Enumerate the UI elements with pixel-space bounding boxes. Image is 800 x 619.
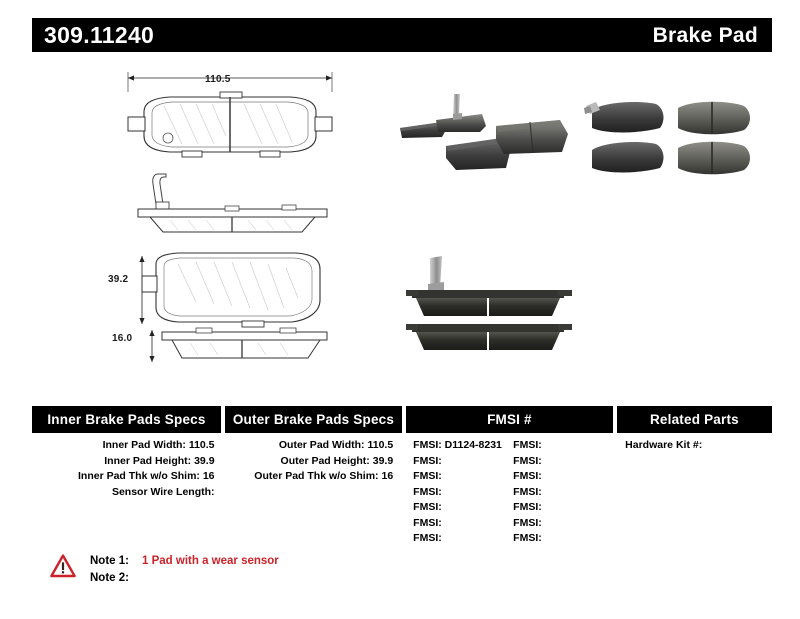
inner-pad-thickness-label: Inner Pad Thk w/o Shim: bbox=[78, 470, 200, 482]
fmsi-label: FMSI: bbox=[513, 532, 542, 544]
note-2-label: Note 2: bbox=[90, 570, 136, 587]
inner-specs-column: Inner Pad Width: 110.5 Inner Pad Height:… bbox=[32, 438, 221, 547]
spec-row-inner-pad-height: Inner Pad Height: 39.9 bbox=[32, 454, 215, 470]
related-parts-column: Hardware Kit #: bbox=[617, 438, 772, 547]
photo-group-front-set bbox=[578, 94, 758, 194]
fmsi-value: D1124-8231 bbox=[445, 439, 502, 451]
fmsi-row: FMSI: bbox=[513, 454, 613, 470]
fmsi-row: FMSI: bbox=[513, 516, 613, 532]
fmsi-subcolumn-left: FMSI: D1124-8231 FMSI: FMSI: FMSI: FMSI: bbox=[413, 438, 513, 547]
table-header-row: Inner Brake Pads Specs Outer Brake Pads … bbox=[32, 406, 772, 433]
notes-section: Note 1: 1 Pad with a wear sensor Note 2: bbox=[50, 552, 279, 587]
fmsi-row: FMSI: D1124-8231 bbox=[413, 438, 513, 454]
fmsi-row: FMSI: bbox=[513, 485, 613, 501]
fmsi-column: FMSI: D1124-8231 FMSI: FMSI: FMSI: FMSI: bbox=[405, 438, 613, 547]
outer-pad-width-label: Outer Pad Width: bbox=[279, 439, 365, 451]
table-body: Inner Pad Width: 110.5 Inner Pad Height:… bbox=[32, 433, 772, 547]
sensor-wire-length-label: Sensor Wire Length: bbox=[112, 486, 215, 498]
fmsi-label: FMSI: bbox=[513, 470, 542, 482]
note-line-2: Note 2: bbox=[90, 570, 279, 587]
fmsi-subcolumn-right: FMSI: FMSI: FMSI: FMSI: FMSI: bbox=[513, 438, 613, 547]
product-type-title: Brake Pad bbox=[653, 25, 758, 46]
fmsi-label: FMSI: bbox=[413, 486, 442, 498]
photo-edge-pair bbox=[402, 248, 577, 358]
part-number: 309.11240 bbox=[44, 24, 154, 47]
column-header-related-parts: Related Parts bbox=[617, 406, 772, 433]
fmsi-row: FMSI: bbox=[513, 438, 613, 454]
outer-pad-thickness-value: 16 bbox=[381, 470, 393, 482]
fmsi-row: FMSI: bbox=[413, 454, 513, 470]
column-header-inner-specs: Inner Brake Pads Specs bbox=[32, 406, 221, 433]
note-1-label: Note 1: bbox=[90, 553, 136, 570]
drawing-edge-view-with-sensor bbox=[130, 168, 335, 238]
outer-specs-column: Outer Pad Width: 110.5 Outer Pad Height:… bbox=[225, 438, 402, 547]
fmsi-row: FMSI: bbox=[513, 531, 613, 547]
inner-pad-height-label: Inner Pad Height: bbox=[104, 455, 191, 467]
fmsi-label: FMSI: bbox=[413, 501, 442, 513]
fmsi-label: FMSI: bbox=[413, 470, 442, 482]
spec-row-inner-pad-thickness: Inner Pad Thk w/o Shim: 16 bbox=[32, 469, 215, 485]
fmsi-row: FMSI: bbox=[413, 485, 513, 501]
fmsi-row: FMSI: bbox=[413, 469, 513, 485]
spec-row-outer-pad-thickness: Outer Pad Thk w/o Shim: 16 bbox=[225, 469, 394, 485]
spec-row-inner-pad-width: Inner Pad Width: 110.5 bbox=[32, 438, 215, 454]
column-header-fmsi: FMSI # bbox=[406, 406, 613, 433]
column-header-outer-specs: Outer Brake Pads Specs bbox=[225, 406, 402, 433]
outer-pad-width-value: 110.5 bbox=[367, 439, 393, 451]
note-lines: Note 1: 1 Pad with a wear sensor Note 2: bbox=[90, 552, 279, 587]
fmsi-row: FMSI: bbox=[413, 500, 513, 516]
specifications-table: Inner Brake Pads Specs Outer Brake Pads … bbox=[32, 406, 772, 547]
fmsi-label: FMSI: bbox=[513, 501, 542, 513]
inner-pad-height-value: 39.9 bbox=[194, 455, 214, 467]
fmsi-row: FMSI: bbox=[513, 500, 613, 516]
header-bar: 309.11240 Brake Pad bbox=[32, 18, 772, 52]
outer-pad-height-value: 39.9 bbox=[373, 455, 393, 467]
fmsi-label: FMSI: bbox=[513, 486, 542, 498]
product-illustration-area: 110.5 39.2 16.0 bbox=[0, 56, 800, 396]
drawing-edge-view-plain bbox=[130, 324, 335, 376]
fmsi-label: FMSI: bbox=[413, 439, 442, 451]
inner-pad-width-value: 110.5 bbox=[189, 439, 215, 451]
hardware-kit-label: Hardware Kit #: bbox=[625, 439, 702, 451]
fmsi-row: FMSI: bbox=[413, 516, 513, 532]
fmsi-row: FMSI: bbox=[513, 469, 613, 485]
outer-pad-height-label: Outer Pad Height: bbox=[281, 455, 370, 467]
drawing-top-face-view bbox=[120, 66, 340, 166]
spec-row-sensor-wire-length: Sensor Wire Length: bbox=[32, 485, 215, 501]
fmsi-label: FMSI: bbox=[513, 439, 542, 451]
fmsi-label: FMSI: bbox=[513, 517, 542, 529]
fmsi-row: FMSI: bbox=[413, 531, 513, 547]
inner-pad-width-label: Inner Pad Width: bbox=[103, 439, 186, 451]
photo-group-rear-set bbox=[398, 92, 573, 197]
inner-pad-thickness-value: 16 bbox=[203, 470, 215, 482]
note-1-value: 1 Pad with a wear sensor bbox=[142, 553, 279, 570]
spec-row-outer-pad-height: Outer Pad Height: 39.9 bbox=[225, 454, 394, 470]
fmsi-label: FMSI: bbox=[413, 455, 442, 467]
outer-pad-thickness-label: Outer Pad Thk w/o Shim: bbox=[254, 470, 378, 482]
fmsi-label: FMSI: bbox=[513, 455, 542, 467]
spec-row-outer-pad-width: Outer Pad Width: 110.5 bbox=[225, 438, 394, 454]
fmsi-label: FMSI: bbox=[413, 532, 442, 544]
spec-row-hardware-kit: Hardware Kit #: bbox=[625, 438, 772, 454]
warning-triangle-icon bbox=[50, 554, 76, 578]
note-line-1: Note 1: 1 Pad with a wear sensor bbox=[90, 553, 279, 570]
fmsi-label: FMSI: bbox=[413, 517, 442, 529]
